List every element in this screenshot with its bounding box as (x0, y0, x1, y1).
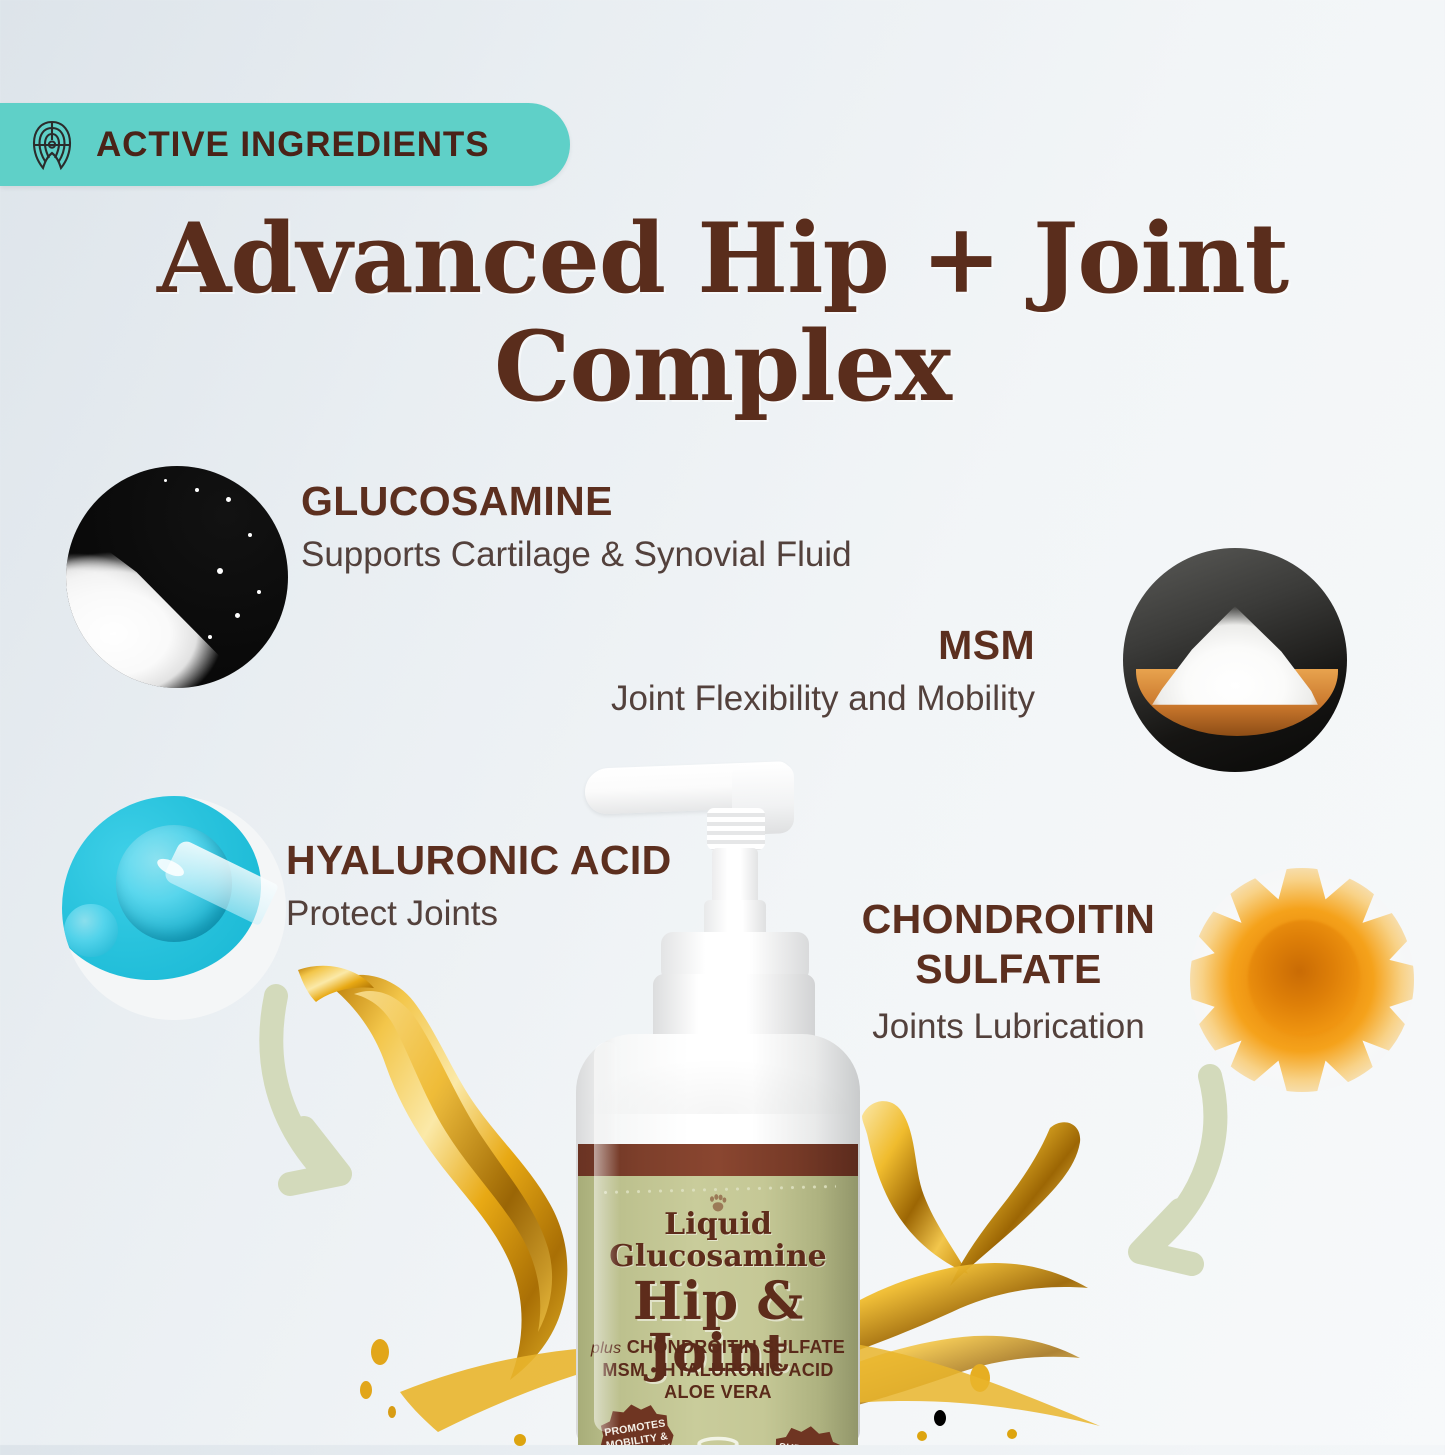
pump-shaft (712, 848, 758, 906)
glucosamine-text-block: GLUCOSAMINE Supports Cartilage & Synovia… (301, 478, 852, 577)
chondroitin-sulfate-description: Joints Lubrication (836, 1004, 1181, 1050)
pump-dispenser (560, 762, 870, 1030)
curved-arrow-down-left-icon (1068, 1062, 1248, 1282)
label-sub-prefix: plus (591, 1340, 622, 1357)
chondroitin-sulfate-image (1190, 868, 1414, 1092)
infographic-canvas: ACTIVE INGREDIENTS Advanced Hip + Joint … (0, 0, 1445, 1445)
glucosamine-name: GLUCOSAMINE (301, 478, 852, 526)
curved-arrow-down-right-icon (256, 968, 426, 1213)
product-bottle: Liquid Glucosamine Hip & Joint plus CHON… (560, 762, 870, 1445)
hyaluronic-acid-image (62, 796, 286, 1020)
powder-speck (217, 568, 223, 574)
powder-speck (195, 488, 199, 492)
msm-text-block: MSM Joint Flexibility and Mobility (520, 622, 1035, 721)
powder-speck (235, 613, 240, 618)
glucosamine-image (66, 466, 288, 688)
label-subtext: plus CHONDROITIN SULFATE MSM • HYALURONI… (578, 1336, 858, 1403)
headline-line-2: Complex (0, 313, 1445, 421)
chondroitin-sulfate-name-line2: SULFATE (836, 944, 1181, 994)
msm-name: MSM (520, 622, 1035, 670)
label-sub-line-3: ALOE VERA (664, 1382, 772, 1402)
gel-droplet-small (64, 904, 118, 958)
msm-image (1123, 548, 1347, 772)
powder-speck (208, 635, 212, 639)
chondroitin-sulfate-name-line1: CHONDROITIN (836, 894, 1181, 944)
page-title: Advanced Hip + Joint Complex (0, 205, 1445, 420)
seal-supports-cartilage: SUPPORTS HEALTHY CARTILAGE (766, 1422, 847, 1445)
powder-core (1248, 920, 1360, 1036)
powder-speck (226, 497, 231, 502)
pump-spout (585, 761, 790, 815)
powder-speck (257, 590, 261, 594)
label-sub-line-2: MSM • HYALURONIC ACID (602, 1360, 833, 1380)
joint-cartilage-icon (30, 119, 74, 171)
chondroitin-sulfate-text-block: CHONDROITIN SULFATE Joints Lubrication (836, 894, 1181, 1050)
active-ingredients-label: ACTIVE INGREDIENTS (96, 125, 489, 165)
powder-heap (66, 515, 266, 688)
bottle-label: Liquid Glucosamine Hip & Joint plus CHON… (578, 1176, 858, 1445)
msm-description: Joint Flexibility and Mobility (520, 676, 1035, 722)
label-sub-line-1: CHONDROITIN SULFATE (627, 1337, 845, 1357)
bottle-shoulder-shading (576, 1034, 860, 1114)
powder-heap (1152, 606, 1318, 705)
active-ingredients-badge: ACTIVE INGREDIENTS (0, 103, 570, 186)
dog-mascot-icon (662, 1428, 774, 1445)
label-line-2: Glucosamine (578, 1242, 858, 1273)
headline-line-1: Advanced Hip + Joint (157, 202, 1288, 315)
glucosamine-description: Supports Cartilage & Synovial Fluid (301, 532, 852, 578)
label-line-1: Liquid (578, 1210, 858, 1241)
powder-speck (248, 533, 252, 537)
powder-speck (164, 479, 167, 482)
bottle-brown-band (578, 1144, 858, 1178)
pump-ribbed-neck (707, 808, 765, 850)
